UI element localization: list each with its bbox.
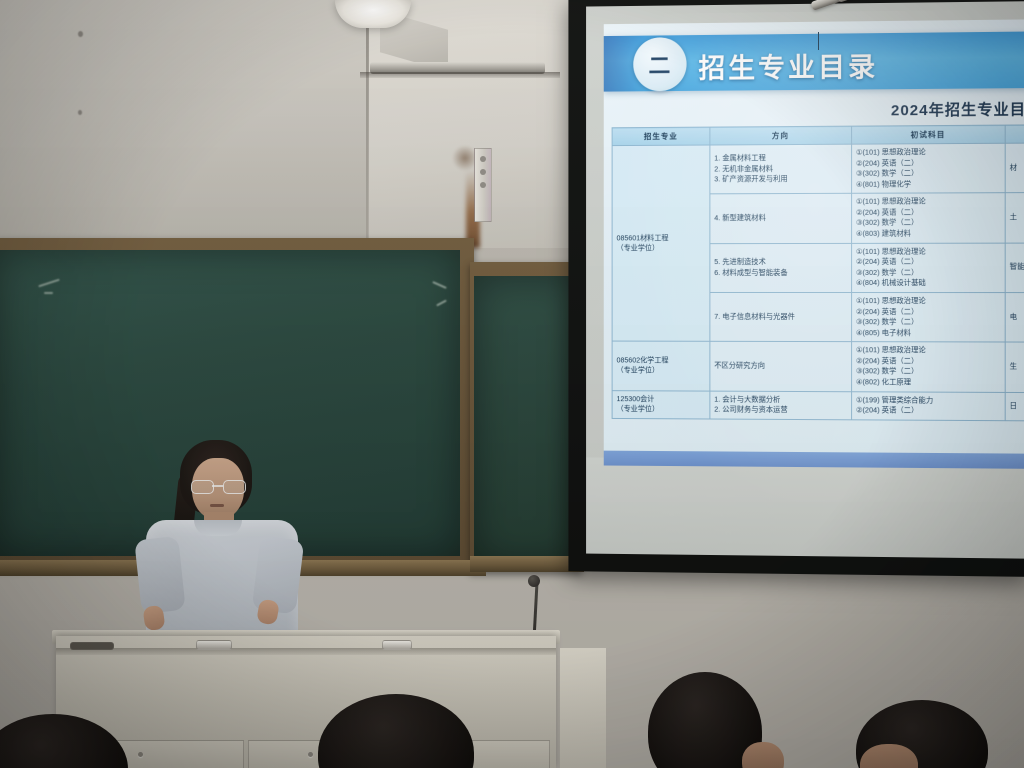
podium-lip — [56, 648, 556, 655]
screen-blank-area — [586, 457, 1024, 558]
cell-extra: 生 — [1005, 342, 1024, 392]
cell-direction: 1. 金属材料工程2. 无机非金属材料3. 矿产资源开发与利用 — [710, 144, 852, 194]
projection-screen: 二 招生专业目录 2024年招生专业目录 招生专业 方向 初试科目 — [568, 0, 1024, 577]
cell-extra: 智能 — [1005, 243, 1024, 293]
col-header-major: 招生专业 — [612, 127, 710, 146]
presentation-slide: 二 招生专业目录 2024年招生专业目录 招生专业 方向 初试科目 — [604, 19, 1024, 469]
wall-mark — [78, 31, 83, 37]
cell-subjects: ①(101) 思想政治理论②(204) 英语（二）③(302) 数学（二）④(8… — [851, 193, 1005, 243]
chalk-mark — [44, 292, 53, 294]
podium-side-panel — [560, 648, 606, 768]
drawer-knob — [138, 752, 143, 757]
cell-subjects: ①(199) 管理类综合能力②(204) 英语（二） — [851, 391, 1005, 420]
chalk-ledge-right — [470, 556, 584, 572]
cell-extra: 日 — [1005, 392, 1024, 421]
table-row: 125300会计（专业学位）1. 会计与大数据分析2. 公司财务与资本运营①(1… — [612, 390, 1024, 421]
col-header-direction: 方向 — [710, 126, 852, 145]
cell-major: 085601材料工程（专业学位） — [612, 145, 710, 342]
drawer-knob — [308, 752, 313, 757]
slide-subtitle: 2024年招生专业目录 — [891, 98, 1024, 120]
cell-extra: 电 — [1005, 293, 1024, 343]
table-body: 085601材料工程（专业学位）1. 金属材料工程2. 无机非金属材料3. 矿产… — [612, 143, 1024, 421]
table-row: 085601材料工程（专业学位）1. 金属材料工程2. 无机非金属材料3. 矿产… — [612, 143, 1024, 195]
cell-direction: 5. 先进制造技术6. 材料成型与智能装备 — [710, 243, 852, 292]
tube-wire — [818, 32, 819, 50]
cell-direction: 7. 电子信息材料与光器件 — [710, 292, 852, 341]
admission-catalog-table: 招生专业 方向 初试科目 085601材料工程（专业学位）1. 金属材料工程2.… — [612, 124, 1024, 421]
col-header-extra — [1005, 125, 1024, 144]
podium-clip — [382, 640, 412, 650]
glasses-bridge — [212, 485, 223, 487]
wall-mark — [78, 110, 82, 115]
cell-direction: 不区分研究方向 — [710, 342, 852, 392]
ceiling-pipe-shadow — [360, 72, 560, 78]
blackboard-surface-right — [474, 276, 580, 564]
table-row: 085602化学工程（专业学位）不区分研究方向①(101) 思想政治理论②(20… — [612, 341, 1024, 392]
table-header-row: 招生专业 方向 初试科目 — [612, 125, 1024, 146]
podium-clip — [196, 640, 232, 650]
cell-direction: 1. 会计与大数据分析2. 公司财务与资本运营 — [710, 391, 852, 420]
presenter-mouth — [210, 504, 224, 507]
cell-major: 085602化学工程（专业学位） — [612, 341, 710, 390]
cell-subjects: ①(101) 思想政治理论②(204) 英语（二）③(302) 数学（二）④(8… — [851, 143, 1005, 193]
cell-direction: 4. 新型建筑材料 — [710, 194, 852, 244]
presenter-sleeve-left — [134, 536, 185, 614]
podium-object — [70, 642, 114, 650]
glasses-lens-left — [191, 480, 214, 494]
cell-extra: 材 — [1005, 143, 1024, 193]
cell-major: 125300会计（专业学位） — [612, 390, 710, 418]
cell-subjects: ①(101) 思想政治理论②(204) 英语（二）③(302) 数学（二）④(8… — [851, 243, 1005, 293]
col-header-subjects: 初试科目 — [851, 125, 1005, 144]
cell-subjects: ①(101) 思想政治理论②(204) 英语（二）③(302) 数学（二）④(8… — [851, 292, 1005, 342]
wall-fixture — [474, 148, 492, 222]
slide-section-badge: 二 — [633, 37, 686, 91]
glasses-icon — [190, 480, 248, 492]
lecture-hall-photo: 二 招生专业目录 2024年招生专业目录 招生专业 方向 初试科目 — [0, 0, 1024, 768]
student-neck-center — [742, 742, 784, 768]
slide-title: 招生专业目录 — [698, 45, 878, 86]
cell-extra: 土 — [1005, 193, 1024, 243]
microphone-head — [528, 575, 540, 587]
wall-seam — [366, 0, 369, 248]
cell-subjects: ①(101) 思想政治理论②(204) 英语（二）③(302) 数学（二）④(8… — [851, 342, 1005, 392]
presenter — [138, 440, 308, 655]
glasses-lens-right — [223, 480, 246, 494]
screen-surface: 二 招生专业目录 2024年招生专业目录 招生专业 方向 初试科目 — [586, 1, 1024, 558]
